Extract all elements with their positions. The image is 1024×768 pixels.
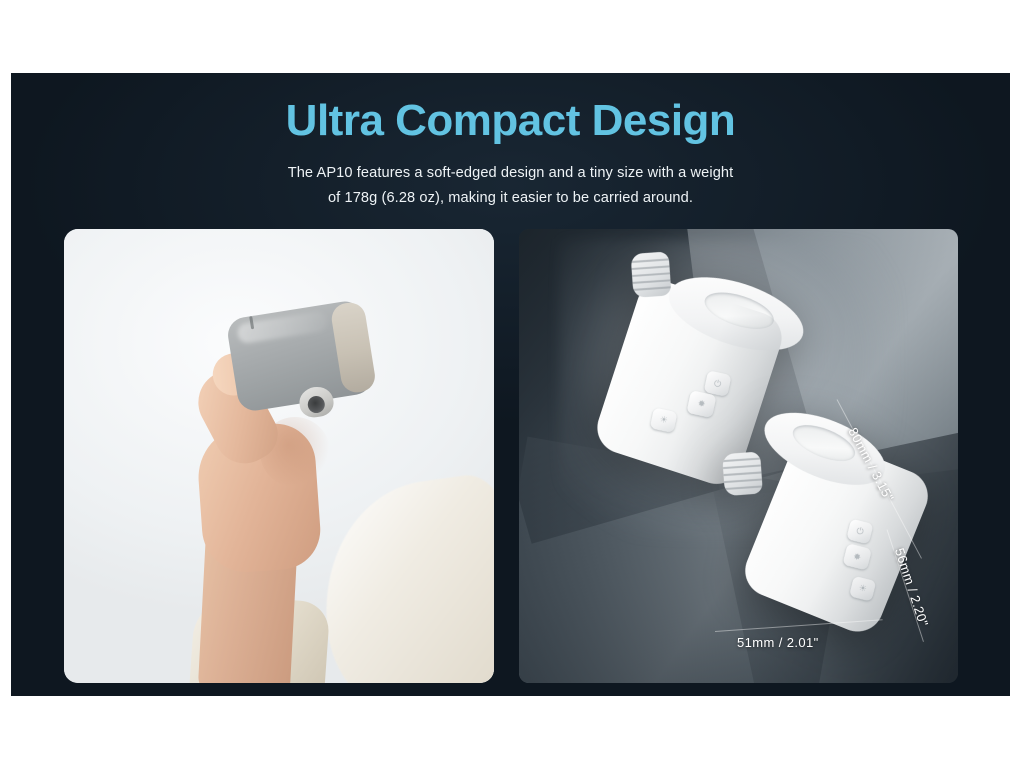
device-upper-vent	[631, 251, 672, 298]
snowflake-icon: ✸	[697, 399, 706, 409]
page-title: Ultra Compact Design	[11, 95, 1010, 147]
page-subtitle: The AP10 features a soft-edged design an…	[11, 161, 1010, 211]
device-lower-vent	[722, 452, 763, 497]
light-icon: ☀	[659, 415, 669, 425]
hero-panel: Ultra Compact Design The AP10 features a…	[11, 73, 1010, 696]
subtitle-line-1: The AP10 features a soft-edged design an…	[11, 161, 1010, 186]
panels-row: ⏻ ✸ ☀	[64, 229, 958, 683]
snowflake-icon: ✸	[852, 552, 862, 563]
lifestyle-photo-panel	[64, 229, 494, 683]
light-icon: ☀	[858, 583, 868, 594]
dimension-label-width: 51mm / 2.01"	[737, 635, 819, 650]
heading-block: Ultra Compact Design The AP10 features a…	[11, 95, 1010, 211]
nozzle-opening-icon	[307, 395, 326, 414]
power-icon: ⏻	[855, 526, 864, 536]
dimension-render-panel: ⏻ ✸ ☀	[519, 229, 958, 683]
power-icon: ⏻	[713, 378, 722, 388]
subtitle-line-2: of 178g (6.28 oz), making it easier to b…	[11, 186, 1010, 211]
page-root: Ultra Compact Design The AP10 features a…	[0, 0, 1024, 768]
